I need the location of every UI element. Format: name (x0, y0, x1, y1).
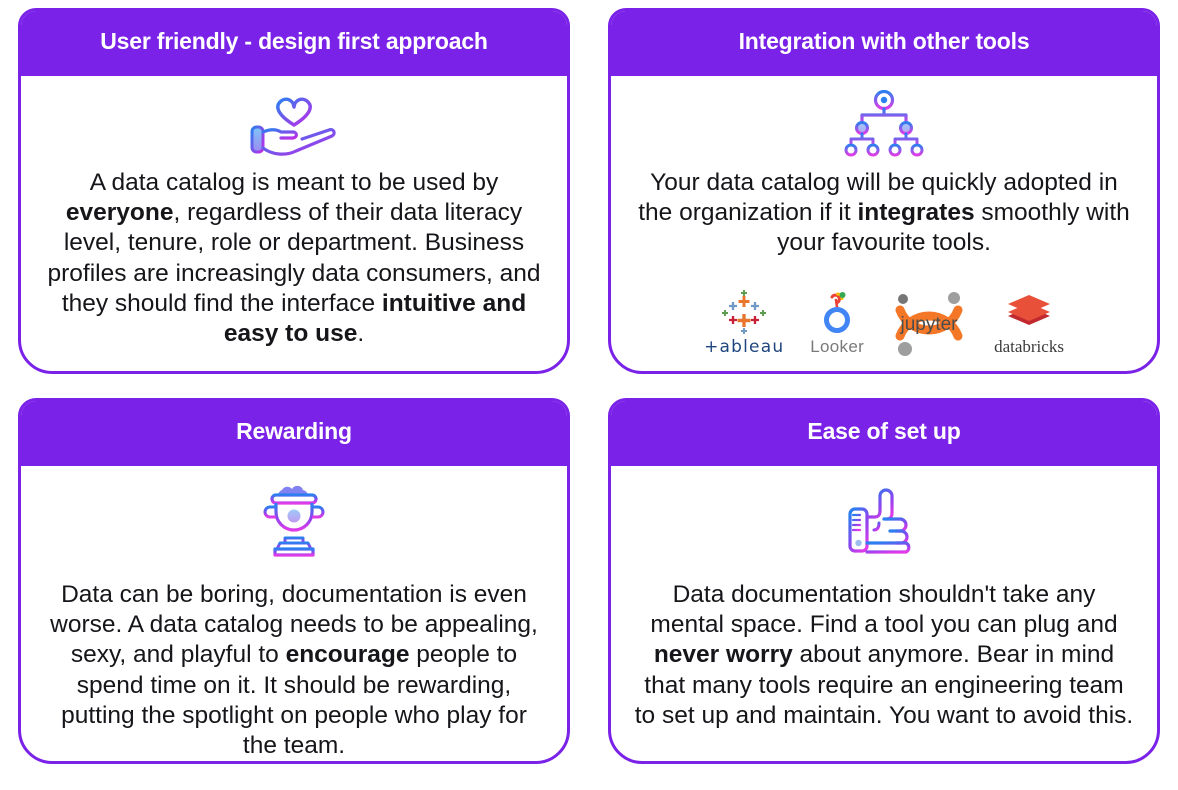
jupyter-logo: jupyter (890, 289, 968, 357)
card-user-friendly: User friendly - design first approach (18, 8, 570, 374)
thumbs-up-icon (844, 482, 924, 564)
card-body-user-friendly: A data catalog is meant to be used by ev… (21, 76, 567, 371)
tableau-wordmark: +ableau (704, 337, 784, 357)
card-ease-of-set-up: Ease of set up (608, 398, 1160, 764)
card-body-ease-of-set-up: Data documentation shouldn't take any me… (611, 466, 1157, 761)
hand-holding-heart-icon (246, 92, 342, 164)
tableau-logo: +ableau (704, 290, 784, 357)
card-integration: Integration with other tools (608, 8, 1160, 374)
databricks-logo: databricks (994, 291, 1064, 357)
card-text-user-friendly: A data catalog is meant to be used by ev… (44, 168, 544, 350)
card-rewarding: Rewarding (18, 398, 570, 764)
card-text-rewarding: Data can be boring, documentation is eve… (44, 580, 544, 762)
card-title-ease-of-set-up: Ease of set up (608, 398, 1160, 466)
card-title-rewarding: Rewarding (18, 398, 570, 466)
card-body-rewarding: Data can be boring, documentation is eve… (21, 466, 567, 764)
feature-card-grid: User friendly - design first approach (0, 0, 1178, 790)
card-text-ease-of-set-up: Data documentation shouldn't take any me… (634, 580, 1134, 732)
jupyter-wordmark: jupyter (900, 314, 959, 335)
card-title-integration: Integration with other tools (608, 8, 1160, 76)
card-body-integration: Your data catalog will be quickly adopte… (611, 76, 1157, 371)
databricks-wordmark: databricks (994, 337, 1064, 357)
trophy-icon (254, 482, 334, 564)
card-title-user-friendly: User friendly - design first approach (18, 8, 570, 76)
looker-logo: Looker (810, 290, 864, 357)
looker-wordmark: Looker (810, 337, 864, 357)
hierarchy-tree-icon (842, 90, 926, 162)
card-text-integration: Your data catalog will be quickly adopte… (634, 168, 1134, 259)
integration-logo-strip: +ableau Looker (633, 289, 1135, 361)
